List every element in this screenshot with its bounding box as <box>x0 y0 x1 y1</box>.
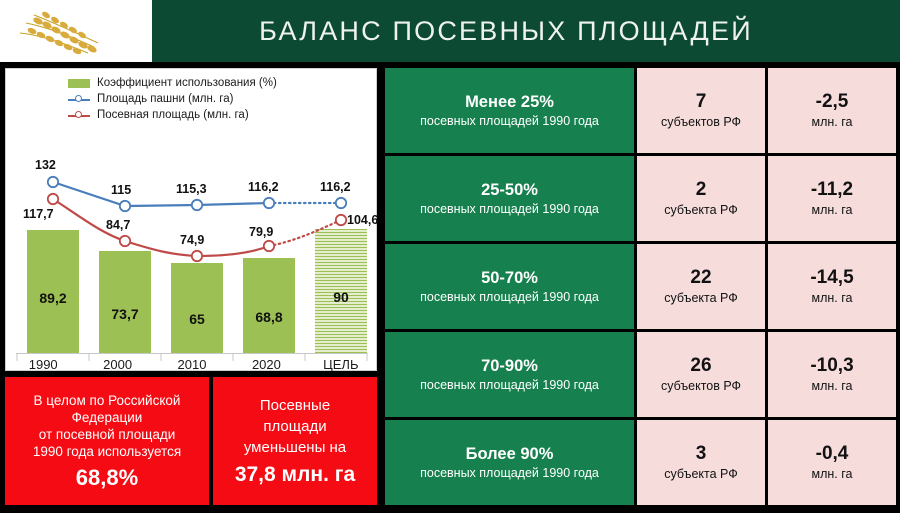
category-subtitle: посевных площадей 1990 года <box>420 201 599 218</box>
xlabel-2010: 2010 <box>155 355 229 375</box>
delta-unit: млн. га <box>812 290 853 307</box>
category-subtitle: посевных площадей 1990 года <box>420 377 599 394</box>
row-delta-cell: -2,5 млн. га <box>768 68 896 153</box>
category-title: 50-70% <box>481 268 538 288</box>
count-unit: субъектов РФ <box>661 378 741 395</box>
category-subtitle: посевных площадей 1990 года <box>420 465 599 482</box>
count-unit: субъекта РФ <box>664 466 737 483</box>
count-value: 22 <box>690 267 711 289</box>
row-delta-cell: -10,3 млн. га <box>768 332 896 417</box>
row-category-cell: 25-50% посевных площадей 1990 года <box>385 156 634 241</box>
count-unit: субъекта РФ <box>664 290 737 307</box>
usage-line-4: 1990 года используется <box>33 443 181 460</box>
regions-table: Менее 25% посевных площадей 1990 года 7 … <box>385 68 896 505</box>
xlabel-2020: 2020 <box>229 355 303 375</box>
page-title: БАЛАНС ПОСЕВНЫХ ПЛОЩАДЕЙ <box>152 16 900 47</box>
stat-box-reduction: Посевные площади уменьшены на 37,8 млн. … <box>213 377 377 505</box>
delta-unit: млн. га <box>812 114 853 131</box>
delta-unit: млн. га <box>812 378 853 395</box>
legend-item-bar: Коэффициент использования (%) <box>6 77 376 89</box>
legend-label-blue: Площадь пашни (млн. га) <box>97 93 233 105</box>
count-value: 26 <box>690 355 711 377</box>
red-line-dotted <box>269 220 341 246</box>
category-subtitle: посевных площадей 1990 года <box>420 113 599 130</box>
delta-value: -14,5 <box>810 267 853 289</box>
delta-value: -0,4 <box>816 443 849 465</box>
blue-label-2010: 115,3 <box>176 182 207 196</box>
row-count-cell: 7 субъектов РФ <box>637 68 765 153</box>
reduction-line-3: уменьшены на <box>244 437 346 458</box>
category-title: Более 90% <box>466 444 554 464</box>
delta-unit: млн. га <box>812 202 853 219</box>
row-delta-cell: -0,4 млн. га <box>768 420 896 505</box>
count-value: 3 <box>696 443 707 465</box>
legend-swatch-line-blue-icon <box>68 94 90 105</box>
delta-value: -2,5 <box>816 91 849 113</box>
blue-label-target: 116,2 <box>320 180 351 194</box>
chart-x-axis <box>16 353 368 354</box>
usage-line-3: от посевной площади <box>39 426 176 443</box>
category-title: 70-90% <box>481 356 538 376</box>
blue-label-2020: 116,2 <box>248 180 279 194</box>
chart-legend: Коэффициент использования (%) Площадь па… <box>6 69 376 121</box>
table-row: Более 90% посевных площадей 1990 года 3 … <box>385 420 896 505</box>
count-unit: субъекта РФ <box>664 202 737 219</box>
red-label-target: 104,6 <box>347 213 378 227</box>
blue-label-1990: 132 <box>35 158 56 172</box>
row-delta-cell: -11,2 млн. га <box>768 156 896 241</box>
table-row: Менее 25% посевных площадей 1990 года 7 … <box>385 68 896 153</box>
count-unit: субъектов РФ <box>661 114 741 131</box>
red-line-solid <box>53 199 269 256</box>
row-count-cell: 26 субъектов РФ <box>637 332 765 417</box>
red-label-2010: 74,9 <box>180 233 204 247</box>
xlabel-2000: 2000 <box>80 355 154 375</box>
row-category-cell: 70-90% посевных площадей 1990 года <box>385 332 634 417</box>
row-count-cell: 3 субъекта РФ <box>637 420 765 505</box>
count-value: 7 <box>696 91 707 113</box>
slide-root: БАЛАНС ПОСЕВНЫХ ПЛОЩАДЕЙ Коэффициент исп… <box>0 0 900 513</box>
delta-value: -10,3 <box>810 355 853 377</box>
category-title: Менее 25% <box>465 92 554 112</box>
blue-line-solid <box>53 182 269 206</box>
logo-container <box>0 0 152 62</box>
category-subtitle: посевных площадей 1990 года <box>420 289 599 306</box>
chart-panel: Коэффициент использования (%) Площадь па… <box>5 68 377 371</box>
stat-box-usage: В целом по Российской Федерации от посев… <box>5 377 209 505</box>
legend-label-bar: Коэффициент использования (%) <box>97 77 277 89</box>
row-count-cell: 2 субъекта РФ <box>637 156 765 241</box>
chart-x-labels: 1990 2000 2010 2020 ЦЕЛЬ <box>6 355 378 375</box>
usage-line-2: Федерации <box>72 409 143 426</box>
row-category-cell: Более 90% посевных площадей 1990 года <box>385 420 634 505</box>
category-title: 25-50% <box>481 180 538 200</box>
table-row: 50-70% посевных площадей 1990 года 22 су… <box>385 244 896 329</box>
delta-value: -11,2 <box>811 179 853 201</box>
red-label-2000: 84,7 <box>106 218 130 232</box>
red-label-2020: 79,9 <box>249 225 273 239</box>
usage-line-1: В целом по Российской <box>34 392 181 409</box>
blue-label-2000: 115 <box>111 183 131 197</box>
red-label-1990: 117,7 <box>23 207 54 221</box>
chart-plot-area: 89,2 73,7 65 68,8 90 <box>6 125 378 375</box>
row-delta-cell: -14,5 млн. га <box>768 244 896 329</box>
usage-value: 68,8% <box>76 465 138 491</box>
legend-swatch-line-red-icon <box>68 110 90 121</box>
table-row: 25-50% посевных площадей 1990 года 2 суб… <box>385 156 896 241</box>
reduction-value: 37,8 млн. га <box>235 463 355 487</box>
delta-unit: млн. га <box>812 466 853 483</box>
legend-item-red-line: Посевная площадь (млн. га) <box>6 109 376 121</box>
reduction-line-1: Посевные <box>260 395 330 416</box>
wheat-ears-icon <box>16 3 136 59</box>
chart-lines-svg <box>6 125 378 375</box>
row-count-cell: 22 субъекта РФ <box>637 244 765 329</box>
reduction-line-2: площади <box>263 416 326 437</box>
legend-swatch-bar-icon <box>68 79 90 88</box>
slide-header: БАЛАНС ПОСЕВНЫХ ПЛОЩАДЕЙ <box>0 0 900 62</box>
table-row: 70-90% посевных площадей 1990 года 26 су… <box>385 332 896 417</box>
xlabel-1990: 1990 <box>6 355 80 375</box>
legend-item-blue-line: Площадь пашни (млн. га) <box>6 93 376 105</box>
row-category-cell: 50-70% посевных площадей 1990 года <box>385 244 634 329</box>
xlabel-target: ЦЕЛЬ <box>304 355 378 375</box>
legend-label-red: Посевная площадь (млн. га) <box>97 109 249 121</box>
row-category-cell: Менее 25% посевных площадей 1990 года <box>385 68 634 153</box>
count-value: 2 <box>696 179 707 201</box>
